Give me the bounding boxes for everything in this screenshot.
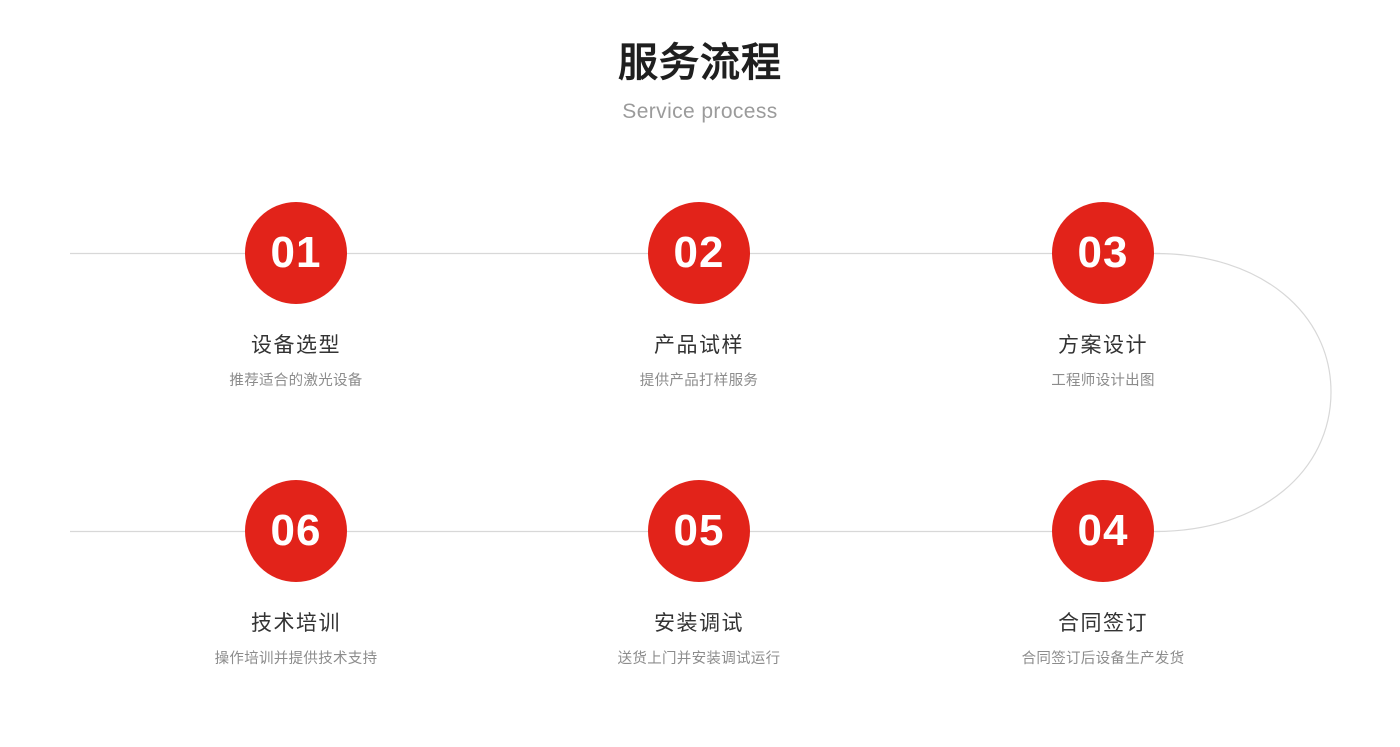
step-desc-01: 推荐适合的激光设备	[146, 373, 446, 390]
step-badge-06[interactable]: 06	[245, 480, 347, 582]
step-number-04: 04	[1078, 509, 1129, 553]
step-desc-02: 提供产品打样服务	[549, 373, 849, 390]
step-badge-01[interactable]: 01	[245, 202, 347, 304]
step-number-06: 06	[271, 509, 322, 553]
service-process-page: 服务流程 Service process 01 设备选型 推荐适合的激光设备 0…	[0, 0, 1400, 747]
step-title-02: 产品试样	[549, 333, 849, 358]
step-badge-03[interactable]: 03	[1052, 202, 1154, 304]
flow-step-01[interactable]: 01 设备选型 推荐适合的激光设备	[146, 202, 446, 391]
flow-step-06[interactable]: 06 技术培训 操作培训并提供技术支持	[146, 480, 446, 669]
step-desc-03: 工程师设计出图	[953, 373, 1253, 390]
step-badge-02[interactable]: 02	[648, 202, 750, 304]
step-title-04: 合同签订	[953, 611, 1253, 636]
step-number-05: 05	[674, 509, 725, 553]
step-title-06: 技术培训	[146, 611, 446, 636]
step-badge-04[interactable]: 04	[1052, 480, 1154, 582]
step-desc-05: 送货上门并安装调试运行	[549, 651, 849, 668]
flow-step-03[interactable]: 03 方案设计 工程师设计出图	[953, 202, 1253, 391]
step-title-05: 安装调试	[549, 611, 849, 636]
flow-steps: 01 设备选型 推荐适合的激光设备 02 产品试样 提供产品打样服务 03 方案…	[0, 0, 1400, 747]
flow-step-04[interactable]: 04 合同签订 合同签订后设备生产发货	[953, 480, 1253, 669]
step-number-03: 03	[1078, 231, 1129, 275]
step-number-01: 01	[271, 231, 322, 275]
flow-step-02[interactable]: 02 产品试样 提供产品打样服务	[549, 202, 849, 391]
step-desc-06: 操作培训并提供技术支持	[146, 651, 446, 668]
step-badge-05[interactable]: 05	[648, 480, 750, 582]
step-title-01: 设备选型	[146, 333, 446, 358]
step-number-02: 02	[674, 231, 725, 275]
flow-step-05[interactable]: 05 安装调试 送货上门并安装调试运行	[549, 480, 849, 669]
step-desc-04: 合同签订后设备生产发货	[953, 651, 1253, 668]
step-title-03: 方案设计	[953, 333, 1253, 358]
